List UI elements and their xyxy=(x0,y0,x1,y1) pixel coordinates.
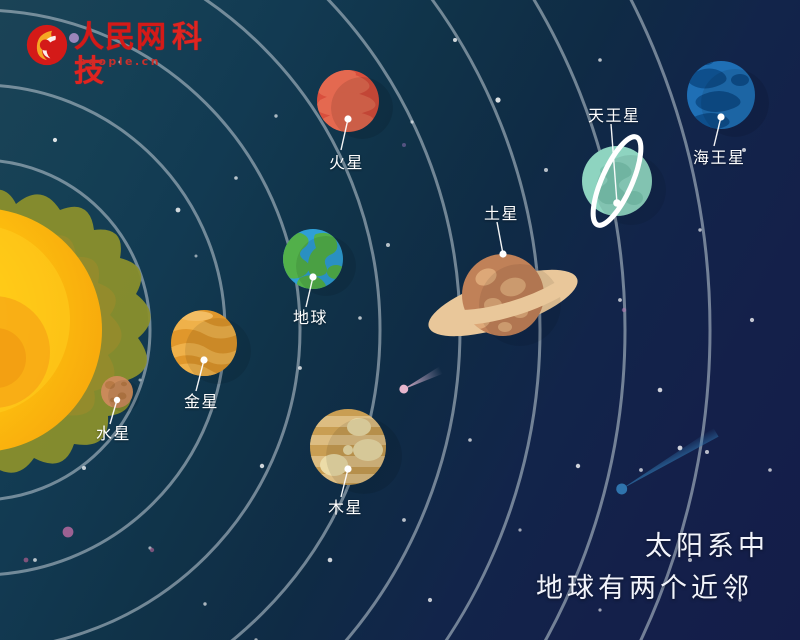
planet-neptune[interactable] xyxy=(687,55,769,146)
planet-label-neptune: 海王星 xyxy=(693,144,746,168)
planet-jupiter[interactable] xyxy=(306,409,402,497)
people-cn-logo[interactable]: 人民网科技 people.cn xyxy=(26,22,226,70)
logo-brand-cn: 人民网 xyxy=(74,20,167,55)
planet-label-venus: 金星 xyxy=(184,388,219,412)
planet-uranus[interactable] xyxy=(582,124,666,231)
caption-line-2: 地球有两个近邻 xyxy=(536,566,753,605)
solar-system-illustration: 人民网科技 people.cn 水星 金星 地球 火星 木星 土星 天王星 海王… xyxy=(0,0,800,640)
planet-label-uranus: 天王星 xyxy=(588,102,641,126)
planet-earth[interactable] xyxy=(278,229,356,307)
comet-pink-icon xyxy=(398,366,443,395)
planet-venus[interactable] xyxy=(168,310,251,391)
people-cn-logo-icon xyxy=(26,24,68,66)
planet-label-mars: 火星 xyxy=(329,149,364,173)
caption-line-1: 太阳系中 xyxy=(645,524,769,563)
planet-mars[interactable] xyxy=(316,69,393,150)
planet-saturn[interactable] xyxy=(421,222,584,350)
planet-label-earth: 地球 xyxy=(293,304,328,328)
planet-label-mercury: 水星 xyxy=(96,420,131,444)
logo-domain: people.cn xyxy=(78,55,161,68)
comet-blue-icon xyxy=(614,428,719,497)
planet-label-saturn: 土星 xyxy=(484,200,519,224)
planet-label-jupiter: 木星 xyxy=(328,494,363,518)
